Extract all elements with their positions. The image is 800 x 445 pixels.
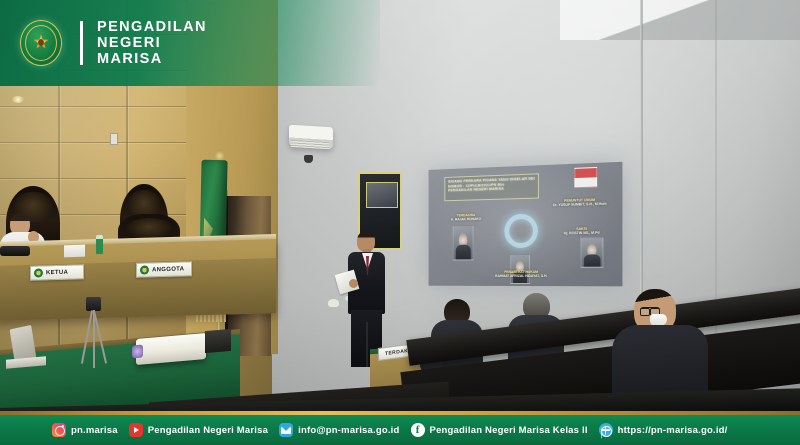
footer-bar: pn.marisa Pengadilan Negeri Marisa info@… [0, 415, 800, 445]
email-icon [279, 423, 293, 437]
cctv-camera-icon [304, 155, 313, 163]
nameplate-ketua: KETUA [30, 264, 84, 281]
wall-speaker-icon [328, 299, 339, 307]
advocate-hand [349, 279, 358, 288]
brand-divider [80, 21, 83, 65]
video-tile-terdakwa[interactable] [453, 225, 474, 260]
projection-screen: SIDANG PERKARA PIDANA YANG DIGELAR SECAR… [429, 162, 623, 287]
participant-name-0: A. RAJAK RONAKO [451, 217, 481, 222]
nameplate-label-1: ANGGOTA [152, 266, 184, 273]
participant-name-2: Hj. ROSTIN NS., M.Pd [564, 231, 600, 236]
supreme-court-emblem-icon [18, 18, 64, 68]
header-overlay: PENGADILAN NEGERI MARISA [0, 0, 380, 86]
video-tile-saksi[interactable] [581, 237, 604, 268]
footer-item-instagram[interactable]: pn.marisa [52, 423, 118, 437]
brand-title-line-2: NEGERI [97, 35, 207, 51]
participant-name-3: RAHMAT AFRIZAL HIDAYAT, S.H. [495, 274, 547, 278]
footer-label-website: https://pn-marisa.go.id/ [618, 425, 728, 436]
facebook-icon: f [411, 423, 425, 437]
projection-title-box: SIDANG PERKARA PIDANA YANG DIGELAR SECAR… [444, 173, 539, 201]
footer-item-email[interactable]: info@pn-marisa.go.id [279, 423, 399, 437]
camera-icon [86, 297, 101, 311]
nameplate-anggota: ANGGOTA [136, 261, 192, 278]
nameplate-label-0: KETUA [46, 269, 68, 276]
instagram-icon [52, 423, 66, 437]
brand-title-line-3: MARISA [97, 51, 207, 67]
footer-item-website[interactable]: https://pn-marisa.go.id/ [599, 423, 728, 437]
glasses-icon [640, 307, 660, 313]
brand-title: PENGADILAN NEGERI MARISA [97, 19, 207, 67]
footer-item-facebook[interactable]: f Pengadilan Negeri Marisa Kelas II [411, 423, 588, 437]
tripod-leg-3 [93, 310, 95, 368]
footer-label-youtube: Pengadilan Negeri Marisa [148, 425, 268, 436]
equipment-box [205, 329, 231, 353]
wall-light-icon [12, 96, 24, 103]
brand-title-line-1: PENGADILAN [97, 19, 207, 35]
footer-label-email: info@pn-marisa.go.id [298, 425, 399, 436]
ceiling-shadow [560, 0, 800, 40]
bench-papers [64, 245, 85, 258]
youtube-icon [129, 423, 143, 437]
nameplate-seal-icon-2 [140, 265, 149, 274]
video-tile-penasehat[interactable] [510, 254, 530, 284]
light-switch[interactable] [110, 133, 118, 145]
water-bottle-icon [96, 235, 103, 254]
projector-lens-icon [132, 345, 143, 359]
advocate-leg-split [366, 322, 368, 367]
website-icon [599, 423, 613, 437]
footer-label-instagram: pn.marisa [71, 425, 118, 436]
nameplate-seal-icon [34, 268, 43, 277]
screenshot-root: SIDANG PERKARA PIDANA YANG DIGELAR SECAR… [0, 0, 800, 445]
footer-item-youtube[interactable]: Pengadilan Negeri Marisa [129, 423, 268, 437]
footer-label-facebook: Pengadilan Negeri Marisa Kelas II [430, 425, 588, 436]
microphone-icon [0, 246, 30, 256]
